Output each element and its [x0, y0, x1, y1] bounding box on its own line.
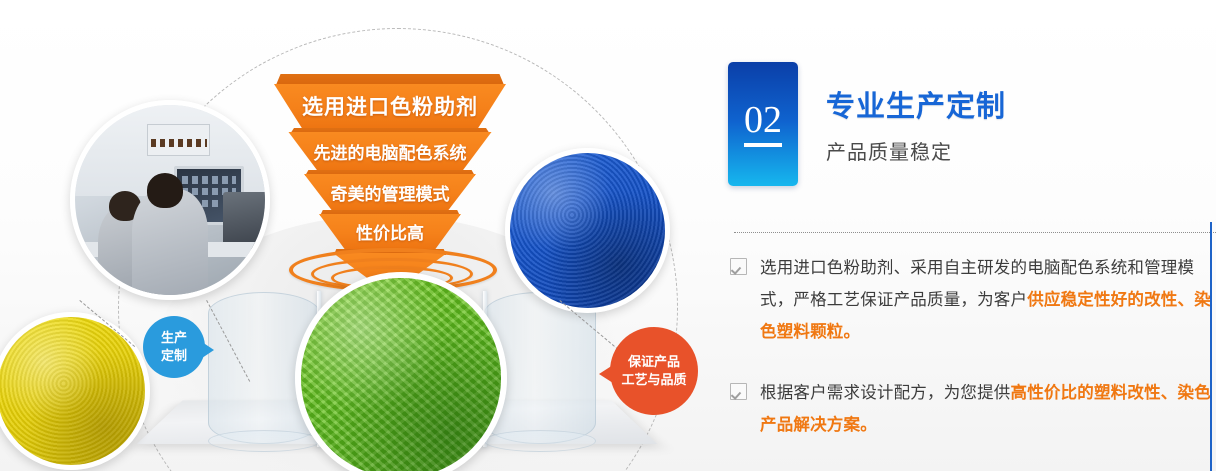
list-item: 选用进口色粉助剂、采用自主研发的电脑配色系统和管理模式，严格工艺保证产品质量，为…: [730, 252, 1216, 349]
photo-yellow-pigment: [0, 312, 150, 470]
funnel-cap-1: [276, 74, 504, 85]
section-header: 02 专业生产定制 产品质量稳定: [728, 62, 1006, 186]
funnel-layer-1-label: 选用进口色粉助剂: [302, 91, 478, 121]
funnel-layer-2-label: 先进的电脑配色系统: [314, 139, 467, 164]
promo-banner: 选用进口色粉助剂 先进的电脑配色系统 奇美的管理模式 性价比高: [0, 0, 1216, 471]
illustration-area: 选用进口色粉助剂 先进的电脑配色系统 奇美的管理模式 性价比高: [0, 0, 716, 471]
funnel-layer-4-label: 性价比高: [356, 219, 424, 244]
lab-photo-background: [75, 105, 265, 295]
green-pellet-texture: [301, 278, 501, 471]
bullet-list: 选用进口色粉助剂、采用自主研发的电脑配色系统和管理模式，严格工艺保证产品质量，为…: [730, 252, 1216, 469]
checkbox-checked-icon: [730, 383, 747, 400]
section-title: 专业生产定制: [826, 83, 1006, 125]
checkbox-checked-icon: [730, 258, 747, 275]
photo-green-pellets: [295, 272, 507, 471]
badge-quality-assurance: 保证产品 工艺与品质: [610, 327, 698, 415]
funnel-layer-3-label: 奇美的管理模式: [331, 180, 450, 205]
funnel-layer-4: 性价比高: [319, 214, 461, 249]
photo-lab-workers: [70, 100, 270, 300]
badge-production-line2: 定制: [161, 347, 187, 365]
lab-person-right-head: [147, 173, 183, 207]
funnel-layer-2: 先进的电脑配色系统: [289, 132, 492, 170]
funnel-layer-3: 奇美的管理模式: [304, 174, 476, 210]
badge-quality-line1: 保证产品: [628, 353, 680, 371]
photo-blue-pigment: [505, 148, 670, 313]
list-item: 根据客户需求设计配方，为您提供高性价比的塑料改性、染色产品解决方案。: [730, 377, 1216, 441]
right-edge-accent-line: [1210, 222, 1212, 471]
section-subtitle: 产品质量稳定: [826, 136, 1006, 165]
yellow-powder-texture: [0, 317, 145, 465]
bullet-2-plain: 根据客户需求设计配方，为您提供: [760, 384, 1011, 402]
section-number: 02: [744, 101, 782, 147]
bullet-text-2: 根据客户需求设计配方，为您提供高性价比的塑料改性、染色产品解决方案。: [760, 377, 1216, 441]
badge-production-tail: [202, 342, 214, 358]
blue-powder-texture: [510, 153, 665, 308]
lab-sample-rack: [147, 124, 210, 156]
badge-production-customization: 生产 定制: [143, 316, 205, 378]
dotted-divider: [734, 232, 1216, 233]
funnel-layer-1: 选用进口色粉助剂: [274, 84, 506, 128]
badge-production-line1: 生产: [161, 329, 187, 347]
bullet-text-1: 选用进口色粉助剂、采用自主研发的电脑配色系统和管理模式，严格工艺保证产品质量，为…: [760, 252, 1216, 349]
section-heading-group: 专业生产定制 产品质量稳定: [826, 83, 1006, 165]
text-panel: 02 专业生产定制 产品质量稳定 选用进口色粉助剂、采用自主研发的电脑配色系统和…: [716, 0, 1216, 471]
badge-quality-line2: 工艺与品质: [621, 371, 686, 389]
badge-quality-tail: [599, 365, 613, 383]
section-number-badge: 02: [728, 62, 798, 186]
